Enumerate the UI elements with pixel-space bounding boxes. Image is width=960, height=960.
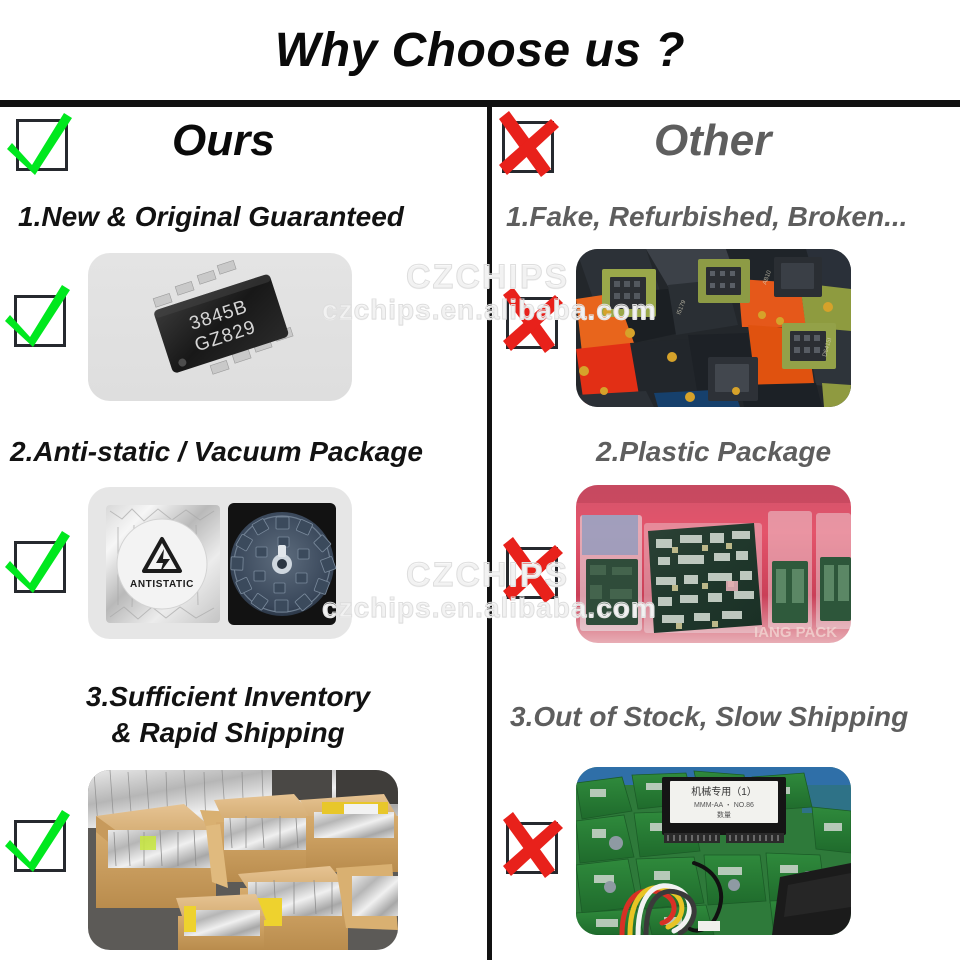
green-check-icon [0,804,76,880]
red-cross-icon [493,283,569,359]
svg-text:MMM-AA ・ NO.86: MMM-AA ・ NO.86 [694,802,754,809]
row2-label-ours: 2.Anti-static / Vacuum Package [10,434,423,470]
column-header-other: Other [654,113,771,169]
red-cross-icon [489,107,565,183]
antistatic-package-photo: ANTISTATIC [88,487,352,639]
row3-label-ours-line2: & Rapid Shipping [48,715,408,751]
green-check-icon [0,525,76,601]
column-header-ours: Ours [172,113,275,169]
green-check-icon [0,279,76,355]
column-ours: Ours 1.New & Original Guaranteed [0,107,487,960]
row3-label-ours-line1: 3.Sufficient Inventory [48,679,408,715]
row1-label-ours: 1.New & Original Guaranteed [18,199,404,235]
plastic-package-photo: IANG PACK [576,485,851,643]
header-divider [0,100,960,107]
green-check-icon [2,107,78,183]
row1-label-other: 1.Fake, Refurbished, Broken... [506,199,907,235]
row2-label-other: 2.Plastic Package [596,434,831,470]
column-other: Other 1.Fake, Refurbished, Broken... [492,107,960,960]
row3-label-ours: 3.Sufficient Inventory & Rapid Shipping [48,679,408,751]
red-cross-icon [493,808,569,884]
svg-text:机械专用（1）: 机械专用（1） [691,785,757,798]
page-title: Why Choose us ? [0,22,960,80]
why-choose-us-banner: Why Choose us ? Ours 1.New & Original Gu… [0,0,960,960]
scrap-pcb-photo: 机械专用（1） MMM-AA ・ NO.86 数量 [576,767,851,935]
ic-chip-photo: 3845B GZ829 [88,253,352,401]
svg-text:ANTISTATIC: ANTISTATIC [130,579,194,590]
svg-text:数量: 数量 [717,810,731,819]
scrap-chips-photo: I5179 D6415I AB10 [576,249,851,407]
row3-label-other: 3.Out of Stock, Slow Shipping [510,699,908,735]
inventory-boxes-photo [88,770,398,950]
plastic-package-overlay-text: IANG PACK [754,624,837,641]
red-cross-icon [493,533,569,609]
